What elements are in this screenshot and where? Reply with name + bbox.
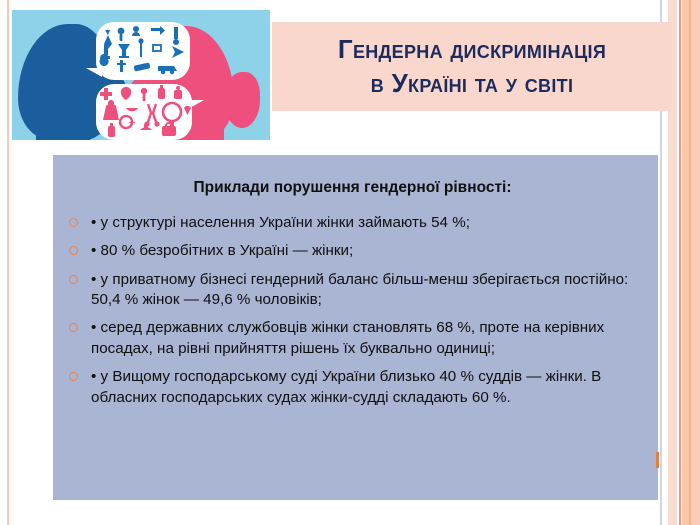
list-item-text: • у Вищому господарському суді України б…: [91, 368, 601, 405]
examples-list: • у структурі населення України жінки за…: [63, 213, 642, 408]
left-edge-stripe: [7, 0, 9, 525]
bullet-ring-icon: [69, 275, 78, 284]
list-item: • серед державних службовців жінки стано…: [63, 318, 642, 359]
right-edge-stripe-3: [679, 0, 681, 525]
female-interest-icons: [96, 84, 192, 140]
bullet-ring-icon: [69, 218, 78, 227]
gender-dialogue-illustration: [12, 10, 270, 140]
slide-title-band: Гендерна дискримінація в Україні та у св…: [272, 22, 672, 111]
list-item: • у приватному бізнесі гендерний баланс …: [63, 270, 642, 311]
list-item-text: • 80 % безробітних в Україні — жінки;: [91, 242, 353, 259]
male-speech-bubble: [96, 22, 190, 80]
content-heading: Приклади порушення гендерної рівності:: [63, 179, 642, 197]
list-item-text: • у структурі населення України жінки за…: [91, 214, 470, 231]
male-interest-icons: [96, 22, 190, 80]
panel-edge-tick: [656, 452, 659, 468]
bullet-ring-icon: [69, 323, 78, 332]
list-item: • у Вищому господарському суді України б…: [63, 367, 642, 408]
bullet-ring-icon: [69, 246, 78, 255]
list-item: • 80 % безробітних в Україні — жінки;: [63, 241, 642, 261]
right-edge-stripe-4: [682, 0, 689, 525]
list-item-text: • у приватному бізнесі гендерний баланс …: [91, 271, 628, 308]
right-edge-stripe-6: [691, 0, 700, 525]
slide-title-line-1: Гендерна дискримінація: [338, 33, 606, 66]
male-neck-shape: [36, 114, 90, 140]
ponytail-band-shape: [216, 76, 230, 90]
female-speech-bubble: [96, 84, 192, 140]
list-item: • у структурі населення України жінки за…: [63, 213, 642, 233]
bullet-ring-icon: [69, 372, 78, 381]
list-item-text: • серед державних службовців жінки стано…: [91, 319, 604, 356]
slide-title-line-2: в Україні та у світі: [371, 67, 574, 100]
content-panel: Приклади порушення гендерної рівності: •…: [53, 155, 658, 500]
